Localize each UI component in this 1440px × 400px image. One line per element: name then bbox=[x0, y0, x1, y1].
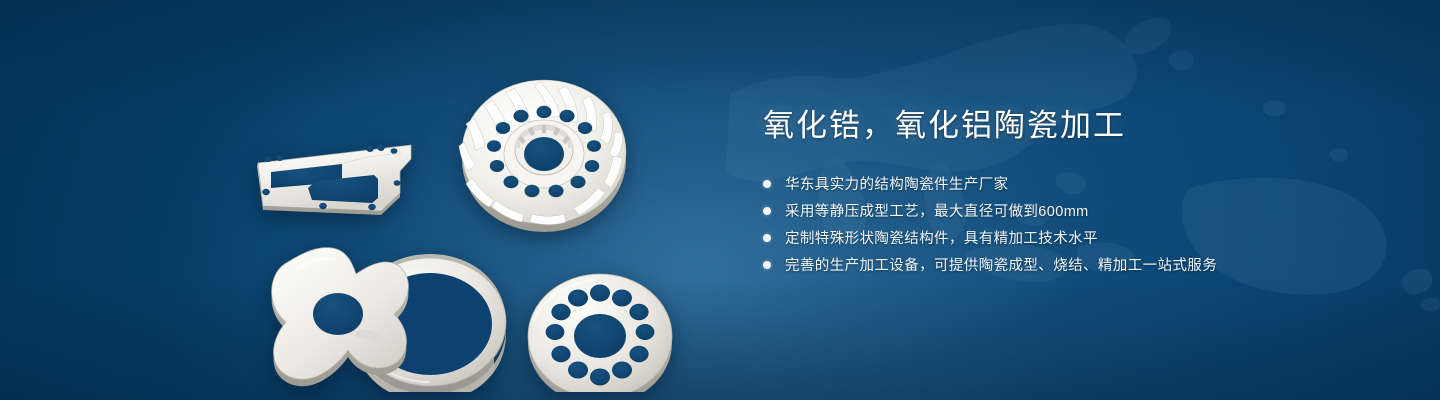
ceramic-impeller-disc bbox=[459, 80, 626, 232]
feature-text: 完善的生产加工设备，可提供陶瓷成型、烧结、精加工一站式服务 bbox=[785, 254, 1217, 275]
page-title: 氧化锆，氧化铝陶瓷加工 bbox=[763, 108, 1383, 144]
list-item: 完善的生产加工设备，可提供陶瓷成型、烧结、精加工一站式服务 bbox=[763, 253, 1383, 277]
feature-text: 定制特殊形状陶瓷结构件，具有精加工技术水平 bbox=[785, 227, 1098, 248]
machined-ceramic-plate bbox=[257, 104, 416, 218]
list-item: 采用等静压成型工艺，最大直径可做到600mm bbox=[763, 199, 1383, 223]
bullet-dot-icon bbox=[763, 234, 771, 242]
list-item: 华东具实力的结构陶瓷件生产厂家 bbox=[763, 172, 1383, 196]
feature-text: 华东具实力的结构陶瓷件生产厂家 bbox=[785, 173, 1009, 194]
hero-banner: 氧化锆，氧化铝陶瓷加工 华东具实力的结构陶瓷件生产厂家 采用等静压成型工艺，最大… bbox=[0, 0, 1440, 400]
perforated-ceramic-ring-plate bbox=[528, 274, 672, 392]
cross-shaped-ceramic-plate bbox=[272, 248, 409, 387]
ceramic-products-image bbox=[230, 48, 710, 392]
banner-text-column: 氧化锆，氧化铝陶瓷加工 华东具实力的结构陶瓷件生产厂家 采用等静压成型工艺，最大… bbox=[763, 108, 1383, 280]
bullet-dot-icon bbox=[763, 261, 771, 269]
list-item: 定制特殊形状陶瓷结构件，具有精加工技术水平 bbox=[763, 226, 1383, 250]
bullet-dot-icon bbox=[763, 180, 771, 188]
feature-list: 华东具实力的结构陶瓷件生产厂家 采用等静压成型工艺，最大直径可做到600mm 定… bbox=[763, 172, 1383, 277]
bullet-dot-icon bbox=[763, 207, 771, 215]
feature-text: 采用等静压成型工艺，最大直径可做到600mm bbox=[785, 200, 1089, 221]
